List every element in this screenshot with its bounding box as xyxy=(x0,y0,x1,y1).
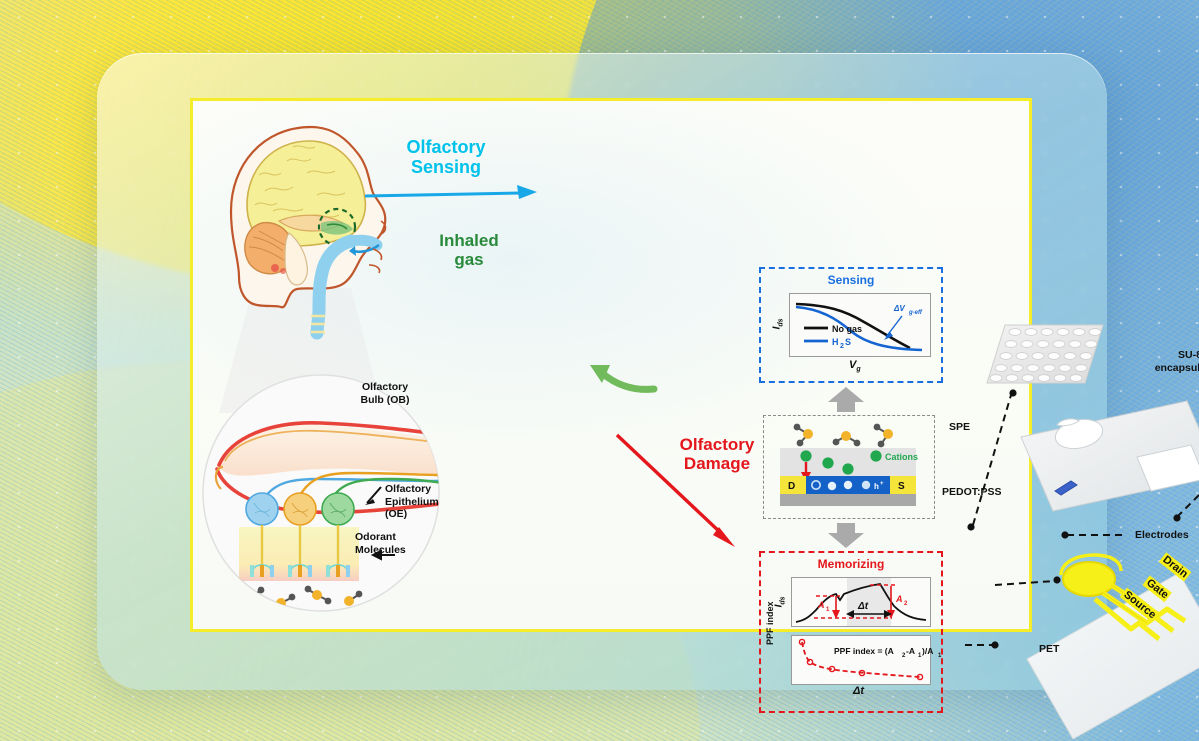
sensing-ylabel-main: I xyxy=(772,327,783,330)
svg-text:2: 2 xyxy=(904,601,908,607)
oe-label-line2: Epithelium xyxy=(385,496,469,509)
spe-label: SPE xyxy=(949,421,970,434)
svg-text:A: A xyxy=(895,594,903,604)
figure-canvas: Olfactory Bulb (OB) Olfactory Epithelium… xyxy=(0,0,1199,741)
svg-text:PPF index = (A: PPF index = (A xyxy=(834,646,894,656)
ppf-ylabel: PPF index xyxy=(765,601,775,645)
olfactory-sensing-label: Olfactory Sensing xyxy=(393,137,499,177)
odorant-label-line1: Odorant xyxy=(355,531,425,544)
su8-label-line1: SU-8 xyxy=(1143,349,1199,362)
su8-label: SU-8 encapsulation xyxy=(1143,349,1199,374)
odorant-molecules-label: Odorant Molecules xyxy=(355,531,425,556)
oect-cross-section: Cations D S h + xyxy=(764,416,930,514)
olfactory-damage-arrow xyxy=(613,431,743,557)
memorizing-panel: Memorizing A 1 xyxy=(759,551,943,713)
svg-text:h: h xyxy=(874,482,879,491)
olfactory-sensing-line1: Olfactory xyxy=(393,137,499,157)
svg-text:2: 2 xyxy=(840,343,844,350)
ppf-plot-curve: PPF index = (A 2 -A 1 )/A 1 xyxy=(792,636,930,684)
sensing-xlabel: Vg xyxy=(849,359,861,374)
ppf-plot: PPF index = (A 2 -A 1 )/A 1 xyxy=(791,635,931,685)
svg-text:+: + xyxy=(880,481,884,487)
svg-text:S: S xyxy=(898,481,905,492)
memorizing-transient-plot: A 1 A 2 Δt xyxy=(791,577,931,627)
oe-label-line1: Olfactory xyxy=(385,483,469,496)
pedot-pss-label: PEDOT:PSS xyxy=(942,486,1002,499)
down-arrow-to-memorizing xyxy=(826,521,866,549)
oe-label-line3: (OE) xyxy=(385,508,469,521)
ob-label-line2: Bulb (OB) xyxy=(345,394,425,407)
svg-text:g-eff: g-eff xyxy=(908,310,923,316)
svg-text:A: A xyxy=(817,600,825,610)
electrodes-label: Electrodes xyxy=(1135,529,1189,542)
olfactory-epithelium-label: Olfactory Epithelium (OE) xyxy=(385,483,469,521)
sensing-ylabel: Ids xyxy=(772,318,786,329)
up-arrow-to-sensing xyxy=(826,385,866,413)
olfactory-bulb-label: Olfactory Bulb (OB) xyxy=(345,381,425,406)
svg-text:S: S xyxy=(845,337,851,347)
ob-label-line1: Olfactory xyxy=(345,381,425,394)
sensing-panel-title: Sensing xyxy=(761,274,941,287)
svg-text:H: H xyxy=(832,337,839,347)
sensing-flow-arrow xyxy=(363,181,543,207)
memorizing-panel-title: Memorizing xyxy=(761,558,941,571)
svg-text:No gas: No gas xyxy=(832,324,862,334)
olfactory-sensing-line2: Sensing xyxy=(393,157,499,177)
inhaled-gas-line2: gas xyxy=(421,250,517,269)
ppf-xlabel: Δt xyxy=(853,685,864,697)
svg-text:Δt: Δt xyxy=(857,601,869,612)
memorizing-transient-curves: A 1 A 2 Δt xyxy=(792,578,930,626)
memorizing-ylabel-sub: ds xyxy=(780,596,787,604)
sensing-ylabel-sub: ds xyxy=(778,318,785,326)
memorizing-ylabel-main: I xyxy=(774,605,785,608)
odorant-label-line2: Molecules xyxy=(355,544,425,557)
pet-label: PET xyxy=(1039,643,1059,656)
svg-text:ΔV: ΔV xyxy=(893,304,905,313)
callout-lines xyxy=(927,327,1199,727)
svg-text:1: 1 xyxy=(826,607,830,613)
sensing-plot-curves: No gas H 2 S ΔV g-eff xyxy=(790,294,930,356)
svg-text:-A: -A xyxy=(906,646,915,656)
inhaled-gas-line1: Inhaled xyxy=(421,231,517,250)
sensing-plot: No gas H 2 S ΔV g-eff xyxy=(789,293,931,357)
content-panel: Olfactory Bulb (OB) Olfactory Epithelium… xyxy=(190,98,1032,632)
inhaled-gas-arrow xyxy=(576,359,660,399)
sensing-panel: Sensing No gas H 2 S ΔV xyxy=(759,267,943,383)
memorizing-ylabel: Ids xyxy=(774,596,788,607)
inhaled-gas-label: Inhaled gas Olfactory Damage Sensing xyxy=(421,231,517,269)
oect-device-panel: Cations D S h + xyxy=(763,415,935,519)
svg-text:D: D xyxy=(788,481,795,492)
svg-text:Cations: Cations xyxy=(885,452,918,462)
sensing-xlabel-sub: g xyxy=(856,366,860,373)
su8-label-line2: encapsulation xyxy=(1143,362,1199,375)
